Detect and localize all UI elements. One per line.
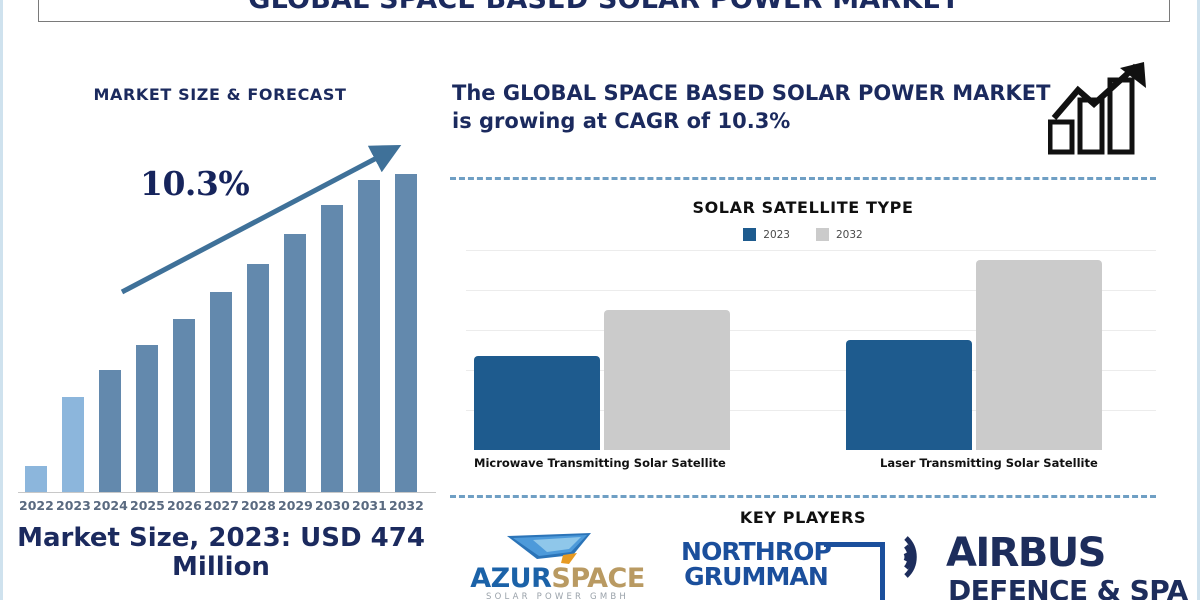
left-chart-axis [18,492,436,493]
bar-chart-growth-arrow-icon [1048,60,1158,155]
grumman-line: GRUMMAN [672,565,840,590]
gridline [466,250,1156,251]
infographic-canvas: GLOBAL SPACE BASED SOLAR POWER MARKET MA… [0,0,1200,600]
airbus-swoosh-icon [900,534,944,580]
forecast-bar [247,263,269,492]
solar-panel-icon [503,533,611,566]
forecast-bar [62,396,84,492]
year-label: 2024 [93,498,127,513]
logo-northrop-grumman: NORTHROP GRUMMAN [672,540,887,600]
legend-label: 2023 [763,229,790,241]
category-axis-labels: Microwave Transmitting Solar SatelliteLa… [466,456,1156,476]
legend-swatch [743,228,756,241]
year-label: 2023 [56,498,90,513]
cagr-statement: The GLOBAL SPACE BASED SOLAR POWER MARKE… [452,80,1052,135]
year-label: 2031 [352,498,386,513]
divider-bottom [450,495,1156,498]
solar-satellite-type-title: SOLAR SATELLITE TYPE [450,198,1156,217]
logo-airbus: AIRBUS DEFENCE & SPA [900,530,1170,600]
bracket-icon [824,542,885,600]
year-label: 2026 [167,498,201,513]
divider-top [450,177,1156,180]
year-label: 2025 [130,498,164,513]
forecast-bar [284,233,306,492]
year-label: 2029 [278,498,312,513]
satellite-type-bar [604,310,730,450]
solar-satellite-type-chart [466,250,1156,450]
azurspace-word-part1: AZUR [470,563,551,594]
legend-swatch [816,228,829,241]
year-label: 2022 [19,498,53,513]
forecast-bar [25,465,47,492]
satellite-type-bar [846,340,972,450]
market-size-value: Market Size, 2023: USD 474 Million [0,524,442,582]
legend-item[interactable]: 2032 [816,228,863,241]
page-title: GLOBAL SPACE BASED SOLAR POWER MARKET [38,0,1170,15]
northrop-grumman-wordmark: NORTHROP GRUMMAN [672,540,840,590]
airbus-subtitle: DEFENCE & SPA [948,574,1188,600]
chart-legend: 20232032 [450,228,1156,241]
azurspace-wordmark: AZURSPACE [455,563,660,594]
year-label: 2027 [204,498,238,513]
year-label: 2032 [389,498,423,513]
logo-azurspace: AZURSPACE SOLAR POWER GMBH [455,533,660,600]
year-axis-labels: 2022202320242025202620272028202920302031… [0,498,440,520]
category-label: Microwave Transmitting Solar Satellite [474,456,726,470]
market-forecast-bar-chart [0,150,440,492]
airbus-wordmark: AIRBUS [946,530,1105,576]
forecast-bar [358,179,380,492]
key-players-title: KEY PLAYERS [450,508,1156,527]
forecast-bar [210,291,232,492]
satellite-type-bar [474,356,600,450]
forecast-bar [136,344,158,492]
azurspace-word-part2: SPACE [551,563,644,594]
forecast-bar [99,369,121,492]
year-label: 2028 [241,498,275,513]
azurspace-subtitle: SOLAR POWER GMBH [455,592,660,600]
forecast-bar [173,318,195,492]
category-label: Laser Transmitting Solar Satellite [880,456,1098,470]
satellite-type-bar [976,260,1102,450]
legend-item[interactable]: 2023 [743,228,790,241]
year-label: 2030 [315,498,349,513]
market-size-heading: MARKET SIZE & FORECAST [10,85,430,104]
forecast-bar [395,173,417,492]
forecast-bar [321,204,343,492]
legend-label: 2032 [836,229,863,241]
